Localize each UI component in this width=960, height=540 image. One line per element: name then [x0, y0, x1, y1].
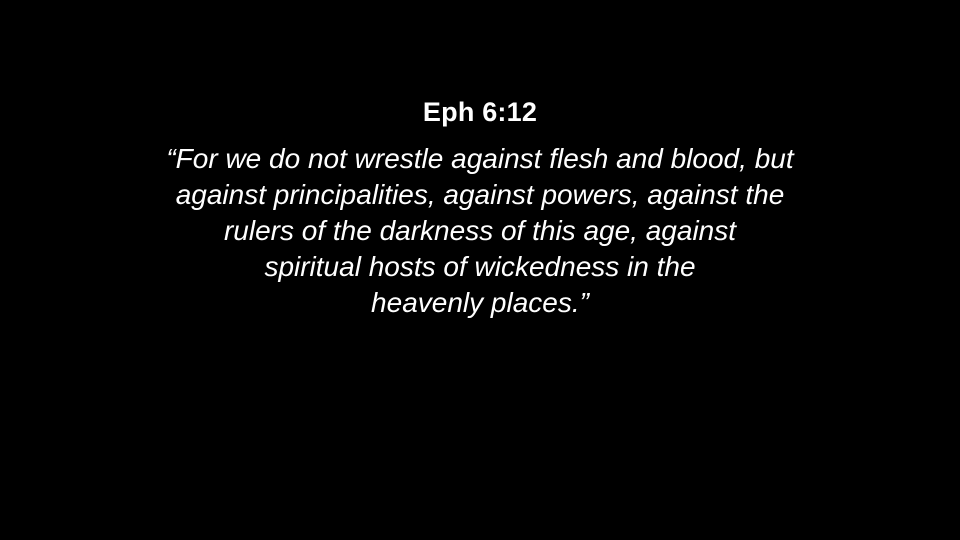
verse-line: rulers of the darkness of this age, agai…	[0, 213, 960, 249]
verse-slide: Eph 6:12 “For we do not wrestle against …	[0, 0, 960, 540]
verse-line: “For we do not wrestle against flesh and…	[0, 141, 960, 177]
verse-line: heavenly places.”	[0, 285, 960, 321]
verse-line: against principalities, against powers, …	[0, 177, 960, 213]
verse-text: “For we do not wrestle against flesh and…	[0, 141, 960, 321]
verse-reference: Eph 6:12	[0, 96, 960, 128]
verse-line: spiritual hosts of wickedness in the	[0, 249, 960, 285]
